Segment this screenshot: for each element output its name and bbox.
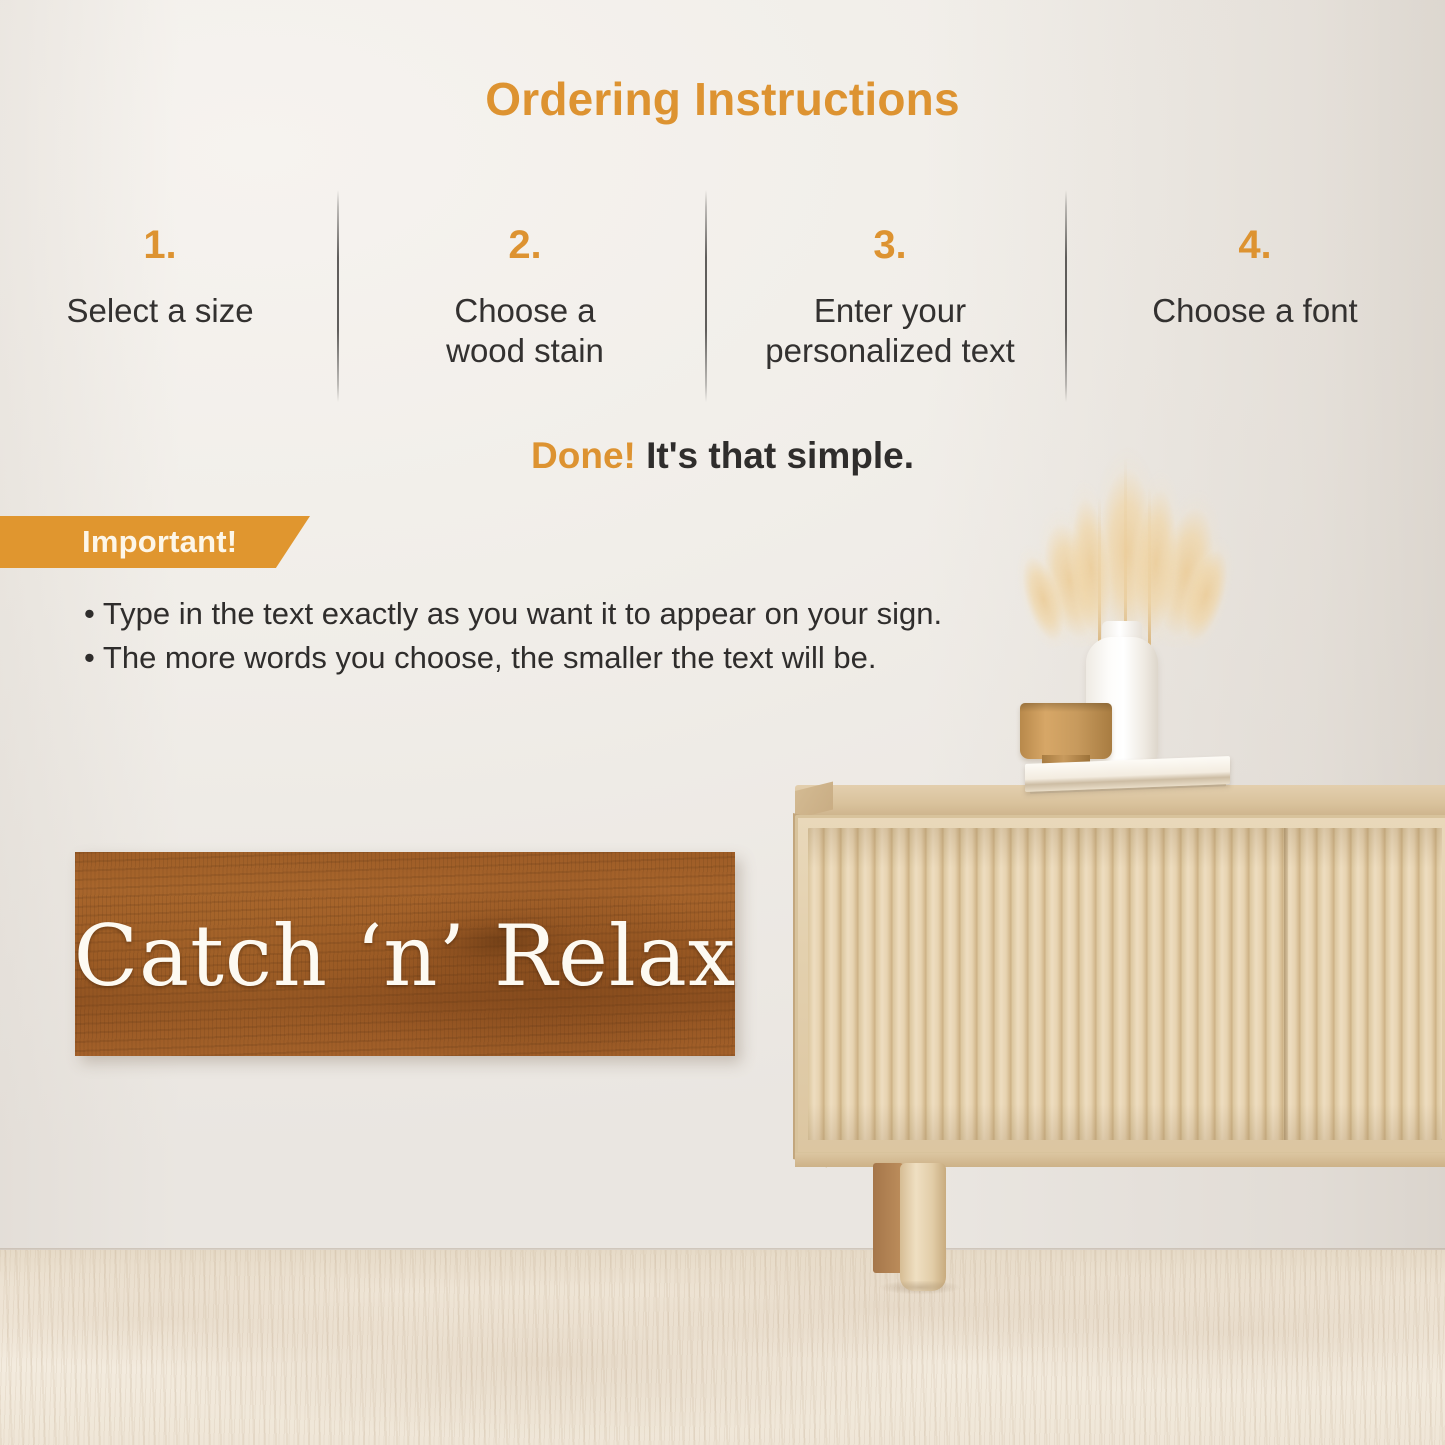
step-divider-1 — [337, 190, 339, 402]
step-divider-3 — [1065, 190, 1067, 402]
step-3-number: 3. — [740, 225, 1040, 265]
step-1-number: 1. — [20, 225, 300, 265]
step-4: 4. Choose a font — [1110, 225, 1400, 331]
personalized-wood-sign: Catch ‘n’ Relax — [75, 852, 735, 1056]
sideboard-bottom-shadow — [808, 1104, 1442, 1140]
sideboard-leg-shadow — [865, 1281, 975, 1297]
step-divider-2 — [705, 190, 707, 402]
wooden-bowl-rim — [1020, 703, 1112, 712]
step-4-number: 4. — [1110, 225, 1400, 265]
sideboard-furniture — [795, 785, 1445, 1205]
sign-engraved-text: Catch ‘n’ Relax — [74, 907, 736, 1005]
step-2-label: Choose awood stain — [380, 291, 670, 372]
sideboard-top-shadow — [808, 828, 1442, 868]
sideboard-back-leg — [873, 1163, 903, 1273]
step-4-label: Choose a font — [1110, 291, 1400, 331]
important-bullet-list: • Type in the text exactly as you want i… — [84, 592, 1144, 680]
step-3-label: Enter yourpersonalized text — [740, 291, 1040, 372]
sideboard-front-leg — [900, 1163, 946, 1291]
page-title: Ordering Instructions — [0, 72, 1445, 126]
scene-canvas: Catch ‘n’ Relax Ordering Instructions 1.… — [0, 0, 1445, 1445]
done-tagline: Done! It's that simple. — [0, 435, 1445, 477]
sideboard-door-seam — [1284, 828, 1288, 1140]
list-item: • Type in the text exactly as you want i… — [84, 592, 1144, 636]
done-highlight: Done! — [531, 435, 636, 476]
important-banner-label: Important! — [82, 524, 237, 560]
step-2: 2. Choose awood stain — [380, 225, 670, 372]
step-1-label: Select a size — [20, 291, 300, 331]
done-rest: It's that simple. — [646, 435, 914, 476]
wood-floor-grain — [0, 1250, 1445, 1445]
ordering-steps: 1. Select a size 2. Choose awood stain 3… — [0, 225, 1445, 410]
sideboard-body — [795, 815, 1445, 1155]
important-banner: Important! — [0, 516, 310, 568]
step-3: 3. Enter yourpersonalized text — [740, 225, 1040, 372]
step-1: 1. Select a size — [20, 225, 300, 331]
list-item: • The more words you choose, the smaller… — [84, 636, 1144, 680]
sideboard-fluted-slats — [808, 828, 1442, 1140]
step-2-number: 2. — [380, 225, 670, 265]
